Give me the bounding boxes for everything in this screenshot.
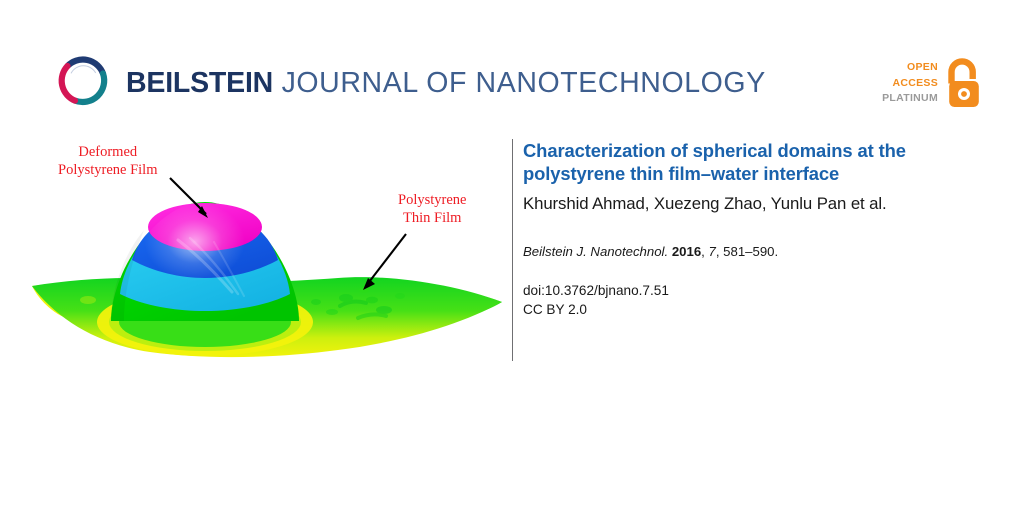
- citation-volume: 7: [708, 244, 715, 259]
- citation-journal: Beilstein J. Nanotechnol.: [523, 244, 672, 259]
- open-access-badge: OPEN ACCESS PLATINUM: [876, 58, 986, 112]
- callout-deformed-polystyrene-film: Deformed Polystyrene Film: [58, 144, 158, 179]
- graphical-abstract: Deformed Polystyrene Film Polystyrene Th…: [28, 130, 506, 370]
- callout-thinfilm-line1: Polystyrene: [398, 192, 466, 208]
- callout-deformed-line1: Deformed: [78, 144, 137, 160]
- wordmark-journal-of-nanotechnology: JOURNAL OF NANOTECHNOLOGY: [273, 67, 766, 99]
- journal-wordmark: BEILSTEIN JOURNAL OF NANOTECHNOLOGY: [126, 69, 766, 98]
- beilstein-ring-logo-icon: [55, 53, 111, 109]
- article-license: CC BY 2.0: [523, 300, 993, 319]
- callout-thinfilm-line2: Thin Film: [403, 210, 461, 226]
- article-doi[interactable]: doi:10.3762/bjnano.7.51: [523, 281, 993, 300]
- open-padlock-icon: [942, 58, 986, 110]
- open-access-line-platinum: PLATINUM: [882, 91, 938, 107]
- article-info: Characterization of spherical domains at…: [523, 140, 993, 319]
- callout-deformed-line2: Polystyrene Film: [58, 162, 158, 178]
- open-access-label: OPEN ACCESS PLATINUM: [882, 60, 938, 107]
- article-citation: Beilstein J. Nanotechnol. 2016, 7, 581–5…: [523, 243, 993, 260]
- open-access-line-open: OPEN: [882, 60, 938, 76]
- open-access-line-access: ACCESS: [882, 76, 938, 92]
- citation-year: 2016: [672, 244, 701, 259]
- article-title[interactable]: Characterization of spherical domains at…: [523, 140, 993, 185]
- callout-polystyrene-thin-film: Polystyrene Thin Film: [398, 192, 466, 227]
- journal-masthead: BEILSTEIN JOURNAL OF NANOTECHNOLOGY OPEN…: [0, 0, 1024, 130]
- citation-pages: , 581–590.: [716, 244, 778, 259]
- wordmark-beilstein: BEILSTEIN: [126, 67, 273, 99]
- vertical-divider: [512, 139, 513, 361]
- article-authors: Khurshid Ahmad, Xuezeng Zhao, Yunlu Pan …: [523, 193, 993, 214]
